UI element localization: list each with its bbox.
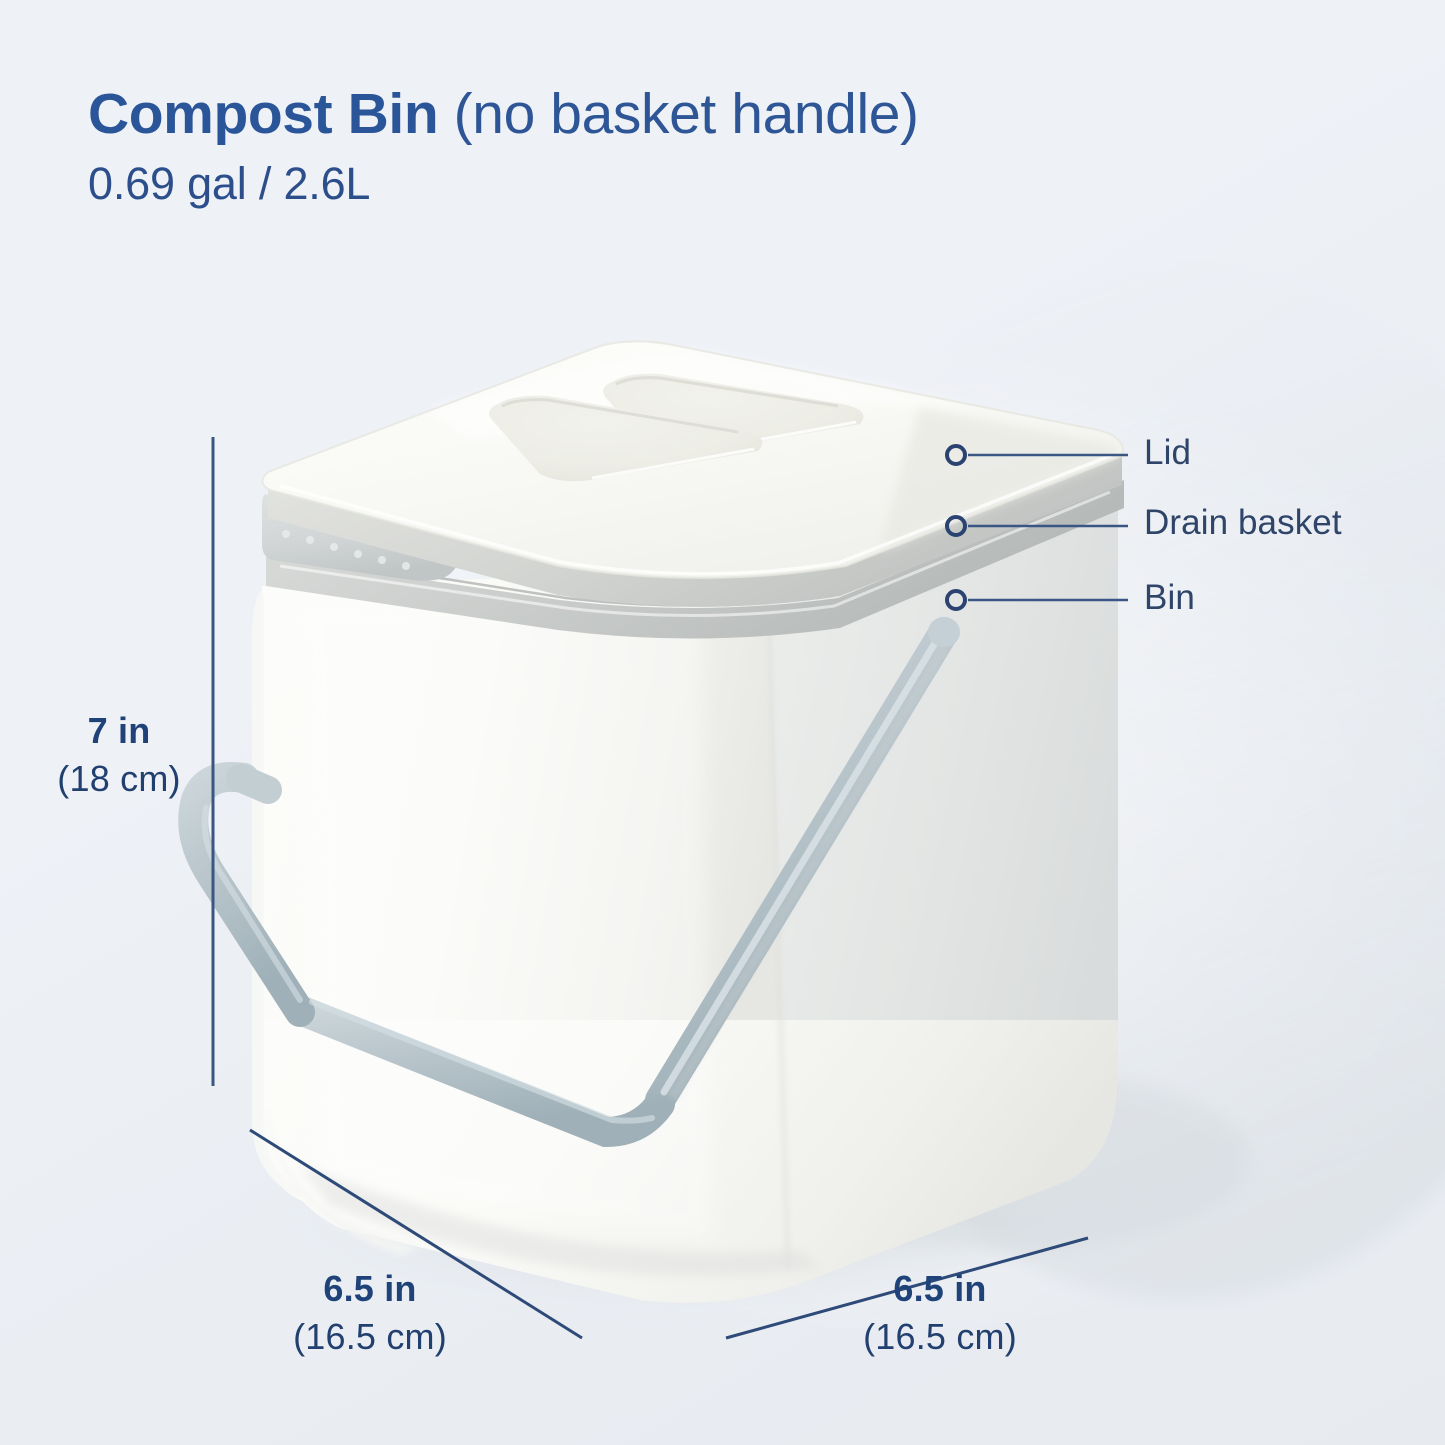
callout-label-lid: Lid <box>1144 433 1191 473</box>
leader-dot-bin <box>947 591 965 609</box>
dimension-height-metric: (18 cm) <box>24 758 214 800</box>
dimension-width-left: 6.5 in (16.5 cm) <box>250 1268 490 1358</box>
infographic-page: Compost Bin (no basket handle) 0.69 gal … <box>0 0 1445 1445</box>
lid <box>262 341 1123 606</box>
dimension-height-imperial: 7 in <box>24 710 214 752</box>
lid-slot-right <box>603 374 863 454</box>
leader-dot-lid <box>947 446 965 464</box>
dimension-width-right: 6.5 in (16.5 cm) <box>820 1268 1060 1358</box>
dimension-width-left-imperial: 6.5 in <box>250 1268 490 1310</box>
page-title: Compost Bin (no basket handle) <box>88 84 1288 146</box>
lid-slot-handles <box>489 374 863 481</box>
product-illustration <box>0 0 1445 1445</box>
leader-dot-drain-basket <box>947 517 965 535</box>
callout-label-drain-basket: Drain basket <box>1144 503 1342 543</box>
lid-slot-left <box>489 396 762 481</box>
page-title-product: Compost Bin <box>88 82 438 146</box>
drain-basket <box>266 480 1124 639</box>
capacity-subtitle: 0.69 gal / 2.6L <box>88 158 1288 210</box>
dimension-width-right-imperial: 6.5 in <box>820 1268 1060 1310</box>
scene-shading <box>270 260 1445 1310</box>
bail-handle <box>193 617 960 1132</box>
dimension-lines <box>213 437 1088 1338</box>
dimension-width-right-metric: (16.5 cm) <box>820 1316 1060 1358</box>
callout-leaders <box>947 446 1128 609</box>
callout-label-bin: Bin <box>1144 578 1195 618</box>
drain-basket-tab <box>262 494 466 580</box>
dimension-width-left-metric: (16.5 cm) <box>250 1316 490 1358</box>
dimension-height: 7 in (18 cm) <box>24 710 214 800</box>
bin-body <box>252 487 1118 1303</box>
heading-block: Compost Bin (no basket handle) 0.69 gal … <box>88 84 1288 210</box>
page-title-qualifier: (no basket handle) <box>438 82 918 146</box>
